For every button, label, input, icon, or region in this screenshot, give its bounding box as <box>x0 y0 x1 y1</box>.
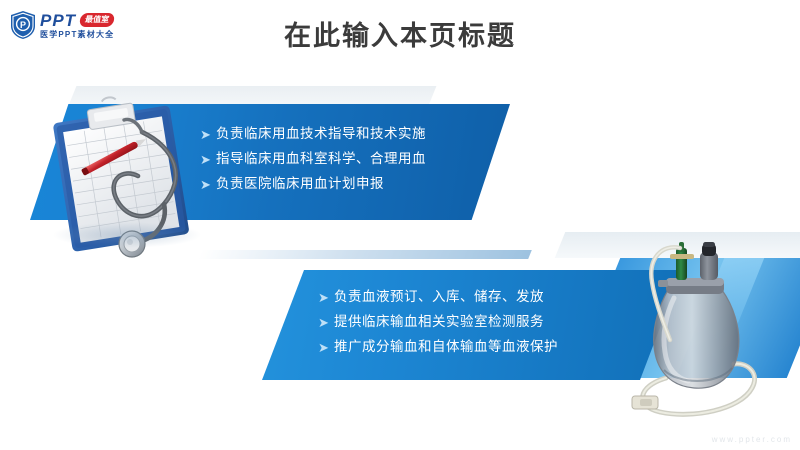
decor-band-middle <box>198 250 532 259</box>
list-item-label: 负责临床用血技术指导和技术实施 <box>216 126 426 142</box>
list-item: ➤ 负责医院临床用血计划申报 <box>200 176 500 192</box>
site-watermark: www.ppter.com <box>712 435 792 444</box>
list-item-label: 指导临床用血科室科学、合理用血 <box>216 151 426 167</box>
content-list-1: ➤ 负责临床用血技术指导和技术实施 ➤ 指导临床用血科室科学、合理用血 ➤ 负责… <box>200 126 500 202</box>
drainage-bottle-photo <box>608 228 788 428</box>
list-item: ➤ 指导临床用血科室科学、合理用血 <box>200 151 500 167</box>
list-item: ➤ 负责血液预订、入库、储存、发放 <box>318 289 618 305</box>
arrow-bullet-icon: ➤ <box>318 316 334 329</box>
arrow-bullet-icon: ➤ <box>200 178 216 191</box>
arrow-bullet-icon: ➤ <box>200 153 216 166</box>
arrow-bullet-icon: ➤ <box>318 341 334 354</box>
list-item: ➤ 推广成分输血和自体输血等血液保护 <box>318 339 618 355</box>
page-title: 在此输入本页标题 <box>0 14 800 53</box>
list-item: ➤ 提供临床输血相关实验室检测服务 <box>318 314 618 330</box>
content-list-2: ➤ 负责血液预订、入库、储存、发放 ➤ 提供临床输血相关实验室检测服务 ➤ 推广… <box>318 289 618 365</box>
list-item-label: 负责医院临床用血计划申报 <box>216 176 384 192</box>
photo-shadow <box>52 222 202 248</box>
list-item: ➤ 负责临床用血技术指导和技术实施 <box>200 126 500 142</box>
arrow-bullet-icon: ➤ <box>318 291 334 304</box>
arrow-bullet-icon: ➤ <box>200 128 216 141</box>
clipboard-stethoscope-photo <box>46 92 216 262</box>
list-item-label: 负责血液预订、入库、储存、发放 <box>334 289 544 305</box>
list-item-label: 提供临床输血相关实验室检测服务 <box>334 314 544 330</box>
list-item-label: 推广成分输血和自体输血等血液保护 <box>334 339 558 355</box>
slide-root: P PPT 最值室 医学PPT素材大全 在此输入本页标题 <box>0 0 800 450</box>
